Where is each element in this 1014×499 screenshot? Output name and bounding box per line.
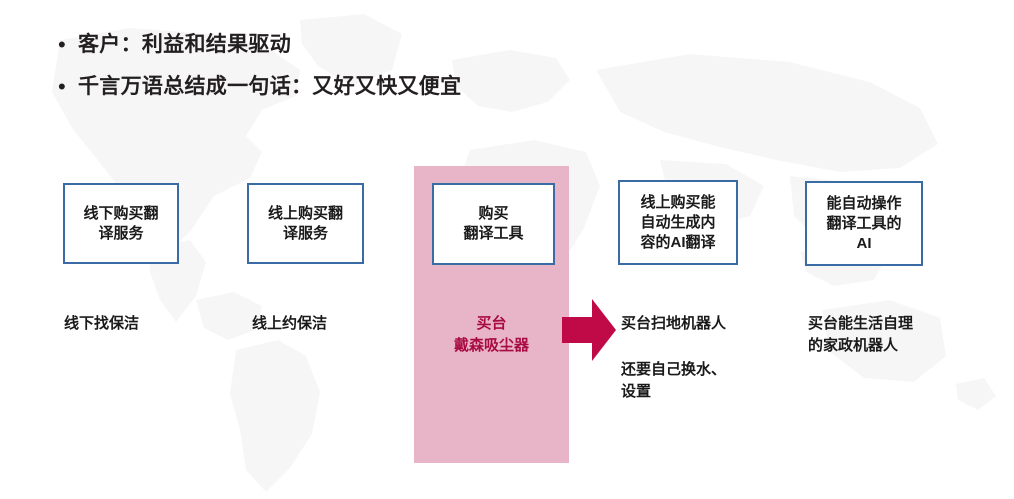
stage-box-ai-generated-translation: 线上购买能 自动生成内 容的AI翻译 [618, 180, 738, 265]
stage-box-online-translation-service: 线上购买翻 译服务 [247, 183, 364, 264]
bullet-text: 千言万语总结成一句话：又好又快又便宜 [78, 72, 461, 102]
caption-self-sufficient-robot: 买台能生活自理 的家政机器人 [808, 313, 983, 357]
stage-box-buy-translation-tool: 购买 翻译工具 [432, 183, 555, 265]
right-arrow-icon [562, 299, 616, 361]
stage-box-label: 能自动操作 翻译工具的 AI [822, 192, 905, 256]
caption-buy-robot-vacuum: 买台扫地机器人 [621, 313, 781, 335]
caption-offline-cleaning: 线下找保洁 [64, 313, 214, 335]
stage-box-label: 线下购买翻 译服务 [79, 202, 162, 246]
bullet-marker-icon: • [52, 72, 78, 102]
stage-box-label: 线上购买能 自动生成内 容的AI翻译 [636, 191, 719, 255]
stage-box-label: 购买 翻译工具 [459, 202, 527, 246]
bullet-marker-icon: • [52, 30, 78, 60]
bullet-item: • 千言万语总结成一句话：又好又快又便宜 [52, 72, 692, 102]
slide-canvas: • 客户：利益和结果驱动 • 千言万语总结成一句话：又好又快又便宜 线下购买翻 … [0, 0, 1014, 499]
stage-box-offline-translation-service: 线下购买翻 译服务 [63, 183, 179, 264]
caption-online-cleaning: 线上约保洁 [252, 313, 402, 335]
stage-box-autonomous-ai: 能自动操作 翻译工具的 AI [805, 181, 923, 266]
caption-manual-refill-note: 还要自己换水、 设置 [621, 359, 781, 403]
stage-box-label: 线上购买翻 译服务 [264, 202, 347, 246]
bullet-text: 客户：利益和结果驱动 [78, 30, 291, 60]
caption-buy-dyson-vacuum: 买台 戴森吸尘器 [414, 313, 569, 357]
bullet-item: • 客户：利益和结果驱动 [52, 30, 692, 60]
bullet-list: • 客户：利益和结果驱动 • 千言万语总结成一句话：又好又快又便宜 [52, 30, 692, 114]
